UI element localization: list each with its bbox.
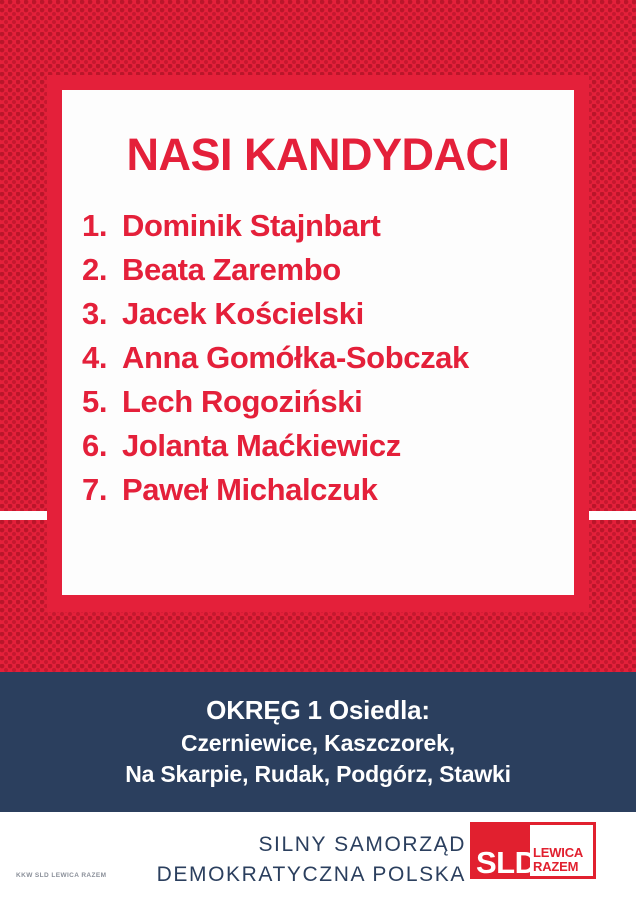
candidate-name: Jolanta Maćkiewicz	[122, 430, 401, 461]
logo-white-panel: LEWICA RAZEM	[530, 825, 593, 876]
logo-panel-line-2: RAZEM	[533, 860, 583, 874]
candidates-card: NASI KANDYDACI 1. Dominik Stajnbart 2. B…	[62, 90, 574, 595]
candidate-name: Dominik Stajnbart	[122, 210, 380, 241]
district-line-1: Czerniewice, Kaszczorek,	[181, 728, 455, 759]
campaign-poster: NASI KANDYDACI 1. Dominik Stajnbart 2. B…	[0, 0, 636, 900]
candidate-number: 5.	[82, 386, 122, 417]
campaign-slogan: SILNY SAMORZĄD DEMOKRATYCZNA POLSKA	[157, 830, 466, 890]
decorative-bar-left	[0, 511, 50, 520]
district-line-2: Na Skarpie, Rudak, Podgórz, Stawki	[125, 759, 511, 790]
logo-panel-line-1: LEWICA	[533, 846, 583, 860]
list-item: 3. Jacek Kościelski	[82, 298, 574, 342]
logo-sld-text: SLD	[476, 847, 537, 878]
candidate-number: 7.	[82, 474, 122, 505]
committee-fineprint: KKW SLD LEWICA RAZEM	[16, 872, 106, 879]
candidate-number: 4.	[82, 342, 122, 373]
candidate-number: 2.	[82, 254, 122, 285]
list-item: 1. Dominik Stajnbart	[82, 210, 574, 254]
candidate-name: Beata Zarembo	[122, 254, 341, 285]
candidate-name: Jacek Kościelski	[122, 298, 364, 329]
list-item: 7. Paweł Michalczuk	[82, 474, 574, 518]
candidate-number: 3.	[82, 298, 122, 329]
list-item: 6. Jolanta Maćkiewicz	[82, 430, 574, 474]
slogan-line-2: DEMOKRATYCZNA POLSKA	[157, 860, 466, 890]
candidates-list: 1. Dominik Stajnbart 2. Beata Zarembo 3.…	[82, 210, 574, 518]
candidate-name: Paweł Michalczuk	[122, 474, 377, 505]
district-heading: OKRĘG 1 Osiedla:	[206, 694, 430, 727]
candidate-number: 6.	[82, 430, 122, 461]
list-item: 2. Beata Zarembo	[82, 254, 574, 298]
district-band: OKRĘG 1 Osiedla: Czerniewice, Kaszczorek…	[0, 672, 636, 812]
list-item: 5. Lech Rogoziński	[82, 386, 574, 430]
candidate-name: Anna Gomółka-Sobczak	[122, 342, 469, 373]
slogan-line-1: SILNY SAMORZĄD	[157, 830, 466, 860]
candidate-number: 1.	[82, 210, 122, 241]
list-item: 4. Anna Gomółka-Sobczak	[82, 342, 574, 386]
sld-lewica-razem-logo: SLD LEWICA RAZEM	[470, 822, 596, 879]
logo-panel-text: LEWICA RAZEM	[533, 846, 583, 874]
page-title: NASI KANDYDACI	[62, 132, 574, 177]
decorative-bar-right	[586, 511, 636, 520]
candidate-name: Lech Rogoziński	[122, 386, 362, 417]
